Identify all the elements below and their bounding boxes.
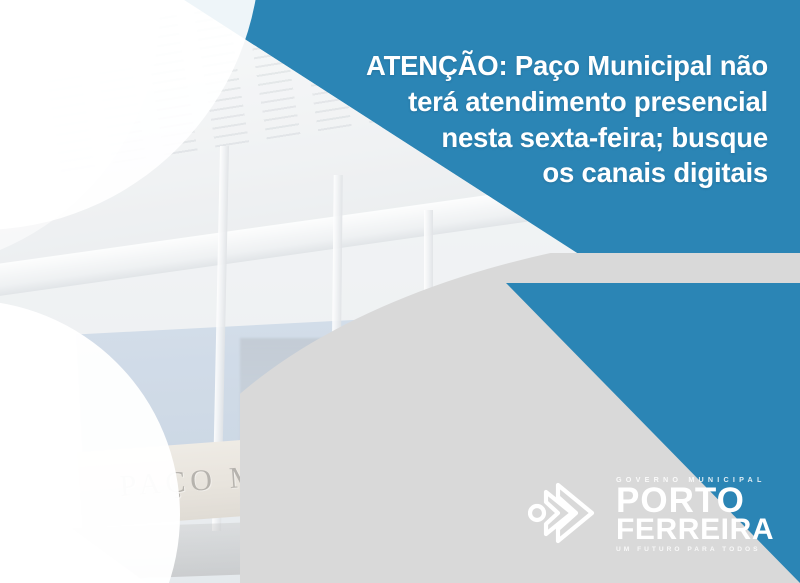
headline-line-1: ATENÇÃO: Paço Municipal não [298,48,768,84]
porto-ferreira-logo: GOVERNO MUNICIPAL PORTO FERREIRA UM FUTU… [528,470,760,556]
headline-line-3: nesta sexta-feira; busque [298,120,768,156]
double-chevron-swoosh-icon [528,476,606,550]
announcement-poster: PAÇO MUNICIPAL ATENÇÃO: Paço Municipal n… [0,0,800,583]
logo-word-secondary: FERREIRA [616,516,774,543]
logo-word-primary: PORTO [616,485,774,517]
headline-line-2: terá atendimento presencial [298,84,768,120]
logo-wordmark: GOVERNO MUNICIPAL PORTO FERREIRA UM FUTU… [616,473,774,554]
logo-tagline: UM FUTURO PARA TODOS [616,546,774,553]
headline-line-4: os canais digitais [298,155,768,191]
headline: ATENÇÃO: Paço Municipal não terá atendim… [298,48,768,191]
